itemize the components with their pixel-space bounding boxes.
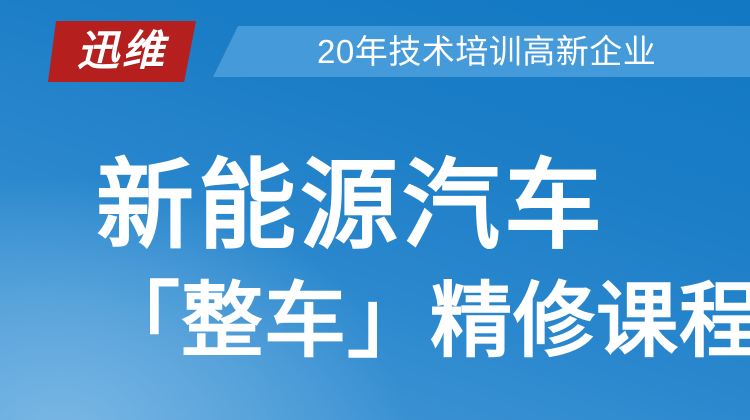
course-subtitle: 「整车」精修课程 [98, 276, 750, 368]
brand-logo-text: 迅维 [48, 21, 196, 82]
promo-poster: 20年技术培训高新企业 迅维 新能源汽车 「整车」精修课程 [0, 0, 750, 420]
course-title: 新能源汽车 [96, 150, 606, 260]
tagline-banner: 20年技术培训高新企业 [213, 26, 750, 77]
poster-header: 20年技术培训高新企业 迅维 [0, 0, 750, 104]
tagline-text: 20年技术培训高新企业 [317, 26, 656, 77]
brand-logo: 迅维 [48, 21, 196, 82]
